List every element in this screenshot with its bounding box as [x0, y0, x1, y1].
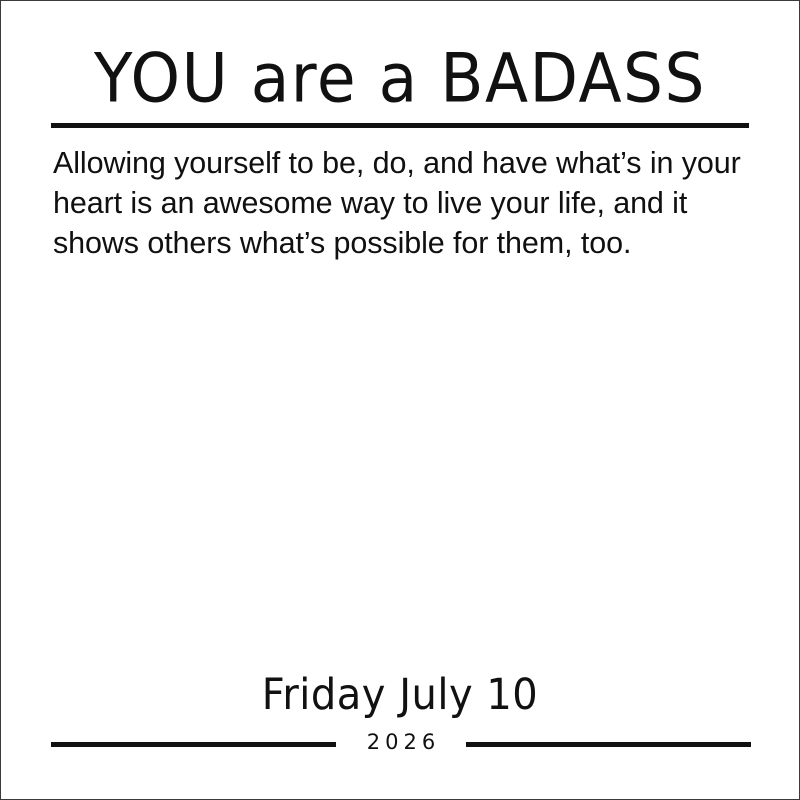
- footer-divider-right: [466, 742, 751, 747]
- year-label: 2026: [336, 729, 466, 755]
- page-title: YOU are a BADASS: [51, 38, 749, 120]
- calendar-page: YOU are a BADASS Allowing yourself to be…: [0, 0, 800, 800]
- title-divider: [51, 123, 749, 128]
- date-label: Friday July 10: [51, 670, 749, 721]
- footer-divider-left: [51, 742, 336, 747]
- quote-text: Allowing yourself to be, do, and have wh…: [53, 143, 753, 263]
